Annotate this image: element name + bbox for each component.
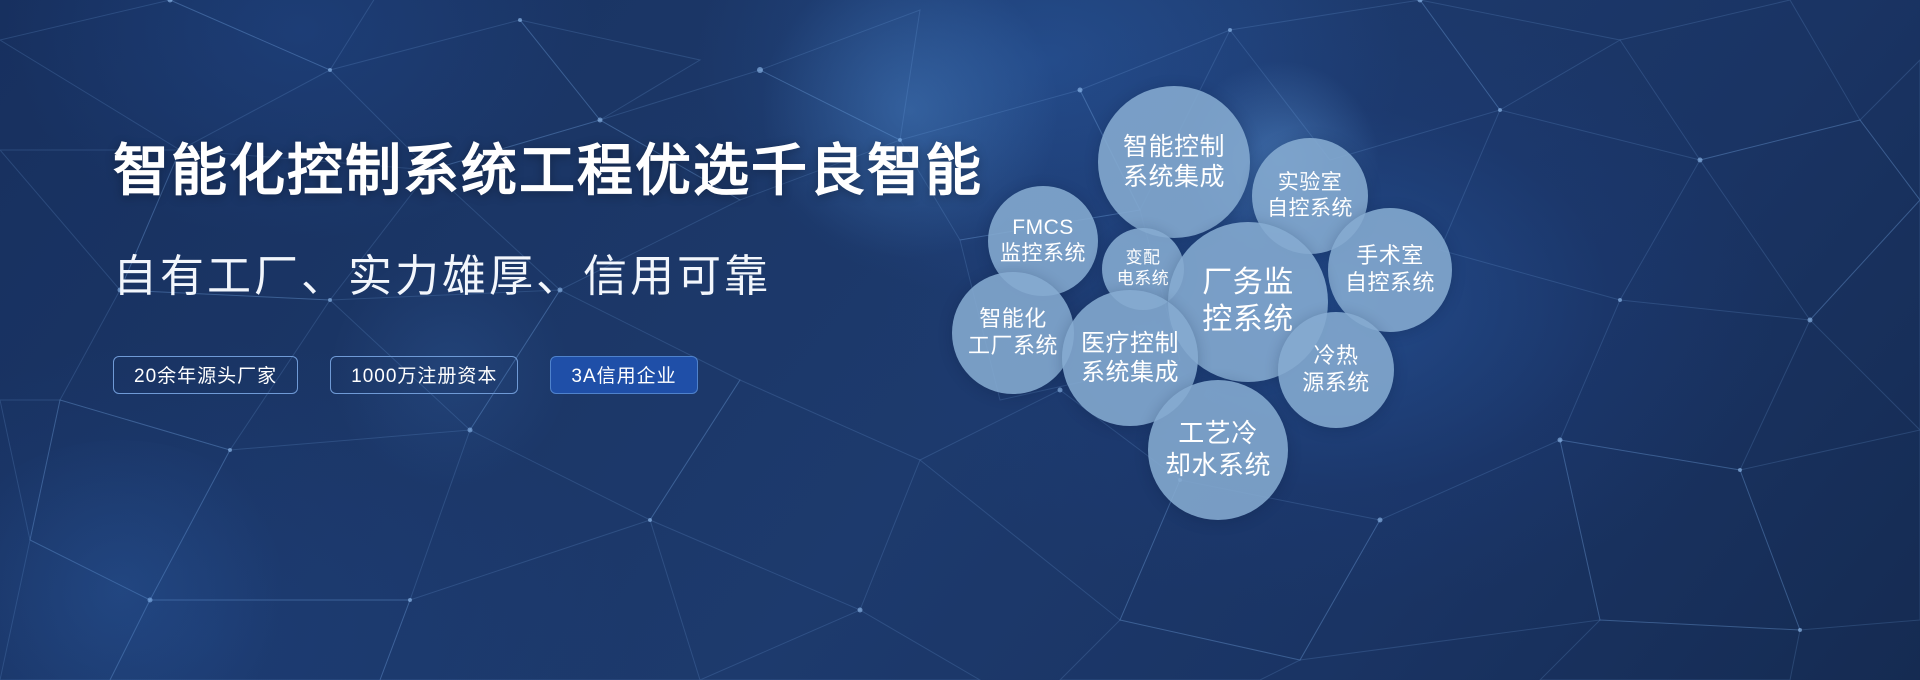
bubble-label-line: 变配 — [1126, 248, 1161, 269]
bubble-label-line: 手术室 — [1356, 243, 1424, 270]
bubble-label-line: 源系统 — [1302, 370, 1370, 397]
bubble-label-line: 工艺冷 — [1178, 418, 1258, 450]
service-bubble-process-cooling-water[interactable]: 工艺冷却水系统 — [1148, 380, 1288, 520]
bubble-label-line: 却水系统 — [1165, 450, 1271, 482]
page-title: 智能化控制系统工程优选千良智能 — [113, 140, 953, 203]
hero-subtitle: 自有工厂、实力雄厚、信用可靠 — [113, 251, 953, 304]
light-glow-decoration — [0, 440, 300, 680]
service-bubble-smart-factory[interactable]: 智能化工厂系统 — [952, 272, 1074, 394]
service-bubble-cold-heat-source[interactable]: 冷热源系统 — [1278, 312, 1394, 428]
credential-badge[interactable]: 3A信用企业 — [550, 356, 697, 394]
bubble-label-line: 系统集成 — [1123, 162, 1225, 193]
bubble-label-line: 冷热 — [1313, 343, 1358, 370]
bubble-label-line: 监控系统 — [1000, 241, 1086, 267]
bubble-label-line: 系统集成 — [1081, 358, 1179, 387]
bubble-label-line: 自控系统 — [1267, 196, 1353, 222]
bubble-label-line: 智能控制 — [1123, 132, 1225, 163]
hero-text-column: 智能化控制系统工程优选千良智能 自有工厂、实力雄厚、信用可靠 20余年源头厂家1… — [113, 140, 953, 394]
credential-badge[interactable]: 1000万注册资本 — [330, 356, 518, 394]
badge-list: 20余年源头厂家1000万注册资本3A信用企业 — [113, 356, 953, 394]
bubble-label-line: 自控系统 — [1345, 270, 1435, 297]
bubble-label-line: 电系统 — [1117, 269, 1170, 290]
service-bubble-cluster: 智能控制系统集成实验室自控系统FMCS监控系统变配电系统手术室自控系统厂务监控系… — [940, 40, 1880, 660]
bubble-label-line: FMCS — [1012, 215, 1074, 241]
bubble-label-line: 控系统 — [1202, 302, 1294, 339]
bubble-label-line: 医疗控制 — [1081, 329, 1179, 358]
service-bubble-smart-control-integration[interactable]: 智能控制系统集成 — [1098, 86, 1250, 238]
bubble-label-line: 智能化 — [979, 306, 1047, 333]
hero-banner: 智能化控制系统工程优选千良智能 自有工厂、实力雄厚、信用可靠 20余年源头厂家1… — [0, 0, 1920, 680]
credential-badge[interactable]: 20余年源头厂家 — [113, 356, 298, 394]
bubble-label-line: 工厂系统 — [968, 333, 1058, 360]
bubble-label-line: 厂务监 — [1202, 265, 1294, 302]
bubble-label-line: 实验室 — [1278, 170, 1343, 196]
